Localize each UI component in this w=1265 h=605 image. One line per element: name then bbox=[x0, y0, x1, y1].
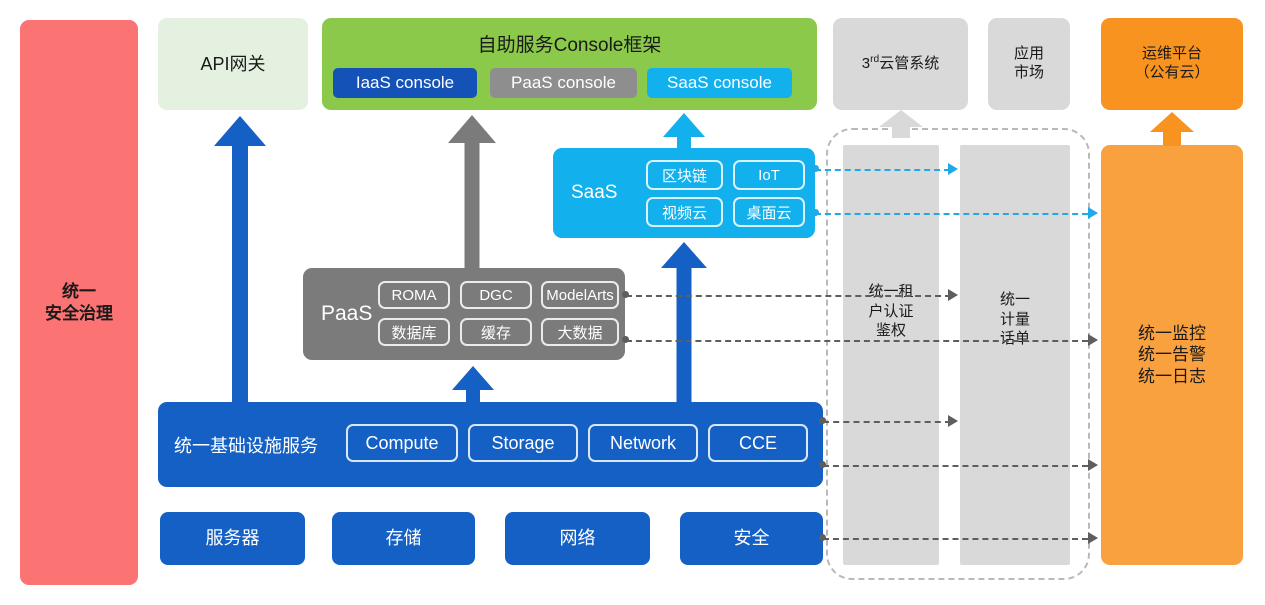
paas-item-roma-label: ROMA bbox=[392, 287, 437, 304]
api-gateway-box: API网关 bbox=[158, 18, 308, 110]
shared-service-auth-label: 统一租 户认证 鉴权 bbox=[843, 282, 939, 341]
paas-item-dgc-label: DGC bbox=[479, 287, 512, 304]
arrow-saas-to-console bbox=[663, 113, 705, 151]
architecture-diagram: 统一 安全治理 API网关 自助服务Console框架 IaaS console… bbox=[0, 0, 1265, 605]
connector-arrowhead-paas-1 bbox=[948, 289, 958, 301]
arrow-shared-to-third-party bbox=[879, 110, 923, 138]
iaas-console-label: IaaS console bbox=[356, 73, 454, 93]
ops-platform-box: 运维平台 （公有云） bbox=[1101, 18, 1243, 110]
saas-item-iot-label: IoT bbox=[758, 167, 780, 184]
paas-item-roma[interactable]: ROMA bbox=[378, 281, 450, 309]
paas-item-cache-label: 缓存 bbox=[481, 322, 511, 343]
paas-item-bigdata-label: 大数据 bbox=[557, 322, 602, 343]
infra-item-network-label: Network bbox=[610, 433, 676, 454]
resource-box-network-label: 网络 bbox=[560, 527, 596, 550]
third-party-superscript: rd bbox=[870, 54, 879, 65]
ops-panel-label: 统一监控 统一告警 统一日志 bbox=[1138, 323, 1206, 387]
third-party-prefix: 3 bbox=[862, 55, 870, 72]
saas-item-desktop-cloud[interactable]: 桌面云 bbox=[733, 197, 805, 227]
infra-item-compute[interactable]: Compute bbox=[346, 424, 458, 462]
infra-item-storage-label: Storage bbox=[491, 433, 554, 454]
self-service-console-frame: 自助服务Console框架 IaaS console PaaS console … bbox=[322, 18, 817, 110]
shared-service-column-metering bbox=[960, 145, 1070, 565]
resource-box-network: 网络 bbox=[505, 512, 650, 565]
security-governance-panel: 统一 安全治理 bbox=[20, 20, 138, 585]
security-governance-label: 统一 安全治理 bbox=[45, 281, 113, 324]
saas-item-video-cloud[interactable]: 视频云 bbox=[646, 197, 723, 227]
connector-paas-to-ops bbox=[626, 340, 1088, 342]
arrow-infra-to-saas bbox=[661, 242, 707, 404]
connector-saas-to-auth bbox=[815, 169, 950, 171]
arrow-paas-to-console bbox=[448, 115, 496, 270]
paas-item-modelarts-label: ModelArts bbox=[546, 287, 614, 304]
arrow-ops-panel-to-ops-platform bbox=[1150, 112, 1194, 146]
paas-console-label: PaaS console bbox=[511, 73, 616, 93]
paas-item-database[interactable]: 数据库 bbox=[378, 318, 450, 346]
saas-console-button[interactable]: SaaS console bbox=[647, 68, 792, 98]
connector-saas-to-ops bbox=[815, 213, 1088, 215]
connector-infra-to-auth bbox=[823, 421, 951, 423]
resource-box-security: 安全 bbox=[680, 512, 823, 565]
connector-paas-to-auth bbox=[626, 295, 951, 297]
unified-infrastructure-block: 统一基础设施服务 Compute Storage Network CCE bbox=[158, 402, 823, 487]
shared-service-column-auth bbox=[843, 145, 939, 565]
infra-item-cce[interactable]: CCE bbox=[708, 424, 808, 462]
resource-box-server-label: 服务器 bbox=[206, 527, 260, 550]
infra-item-compute-label: Compute bbox=[365, 433, 438, 454]
saas-item-video-cloud-label: 视频云 bbox=[662, 202, 707, 223]
connector-resources-to-ops bbox=[823, 538, 1088, 540]
third-party-cloud-mgmt-box: 3rd云管系统 bbox=[833, 18, 968, 110]
arrow-infra-to-paas bbox=[452, 366, 494, 404]
saas-item-iot[interactable]: IoT bbox=[733, 160, 805, 190]
arrow-infra-to-api-gateway bbox=[214, 116, 266, 404]
saas-block: SaaS 区块链 IoT 视频云 桌面云 bbox=[553, 148, 815, 238]
unified-infrastructure-label: 统一基础设施服务 bbox=[174, 432, 318, 458]
paas-console-button[interactable]: PaaS console bbox=[490, 68, 637, 98]
paas-item-cache[interactable]: 缓存 bbox=[460, 318, 532, 346]
resource-box-storage: 存储 bbox=[332, 512, 475, 565]
third-party-cloud-mgmt-label: 3rd云管系统 bbox=[862, 54, 939, 74]
connector-infra-to-ops bbox=[823, 465, 1088, 467]
api-gateway-label: API网关 bbox=[200, 53, 265, 76]
saas-console-label: SaaS console bbox=[667, 73, 772, 93]
connector-arrowhead-resources bbox=[1088, 532, 1098, 544]
saas-item-desktop-cloud-label: 桌面云 bbox=[746, 202, 791, 223]
paas-item-database-label: 数据库 bbox=[391, 322, 436, 343]
connector-arrowhead-infra-1 bbox=[948, 415, 958, 427]
saas-item-blockchain-label: 区块链 bbox=[662, 165, 707, 186]
iaas-console-button[interactable]: IaaS console bbox=[333, 68, 477, 98]
console-frame-title: 自助服务Console框架 bbox=[322, 30, 817, 57]
resource-box-storage-label: 存储 bbox=[386, 527, 422, 550]
infra-item-network[interactable]: Network bbox=[588, 424, 698, 462]
connector-arrowhead-infra-2 bbox=[1088, 459, 1098, 471]
saas-label: SaaS bbox=[571, 182, 617, 204]
paas-item-bigdata[interactable]: 大数据 bbox=[541, 318, 619, 346]
ops-panel: 统一监控 统一告警 统一日志 bbox=[1101, 145, 1243, 565]
connector-arrowhead-saas-2 bbox=[1088, 207, 1098, 219]
paas-item-dgc[interactable]: DGC bbox=[460, 281, 532, 309]
connector-arrowhead-saas-1 bbox=[948, 163, 958, 175]
third-party-suffix: 云管系统 bbox=[879, 55, 939, 72]
infra-item-storage[interactable]: Storage bbox=[468, 424, 578, 462]
resource-box-server: 服务器 bbox=[160, 512, 305, 565]
app-market-label: 应用 市场 bbox=[1014, 45, 1044, 83]
paas-item-modelarts[interactable]: ModelArts bbox=[541, 281, 619, 309]
connector-arrowhead-paas-2 bbox=[1088, 334, 1098, 346]
infra-item-cce-label: CCE bbox=[739, 433, 777, 454]
paas-label: PaaS bbox=[321, 302, 372, 326]
resource-box-security-label: 安全 bbox=[734, 527, 770, 550]
ops-platform-label: 运维平台 （公有云） bbox=[1134, 45, 1209, 83]
app-market-box: 应用 市场 bbox=[988, 18, 1070, 110]
saas-item-blockchain[interactable]: 区块链 bbox=[646, 160, 723, 190]
paas-block: PaaS ROMA DGC ModelArts 数据库 缓存 大数据 bbox=[303, 268, 625, 360]
